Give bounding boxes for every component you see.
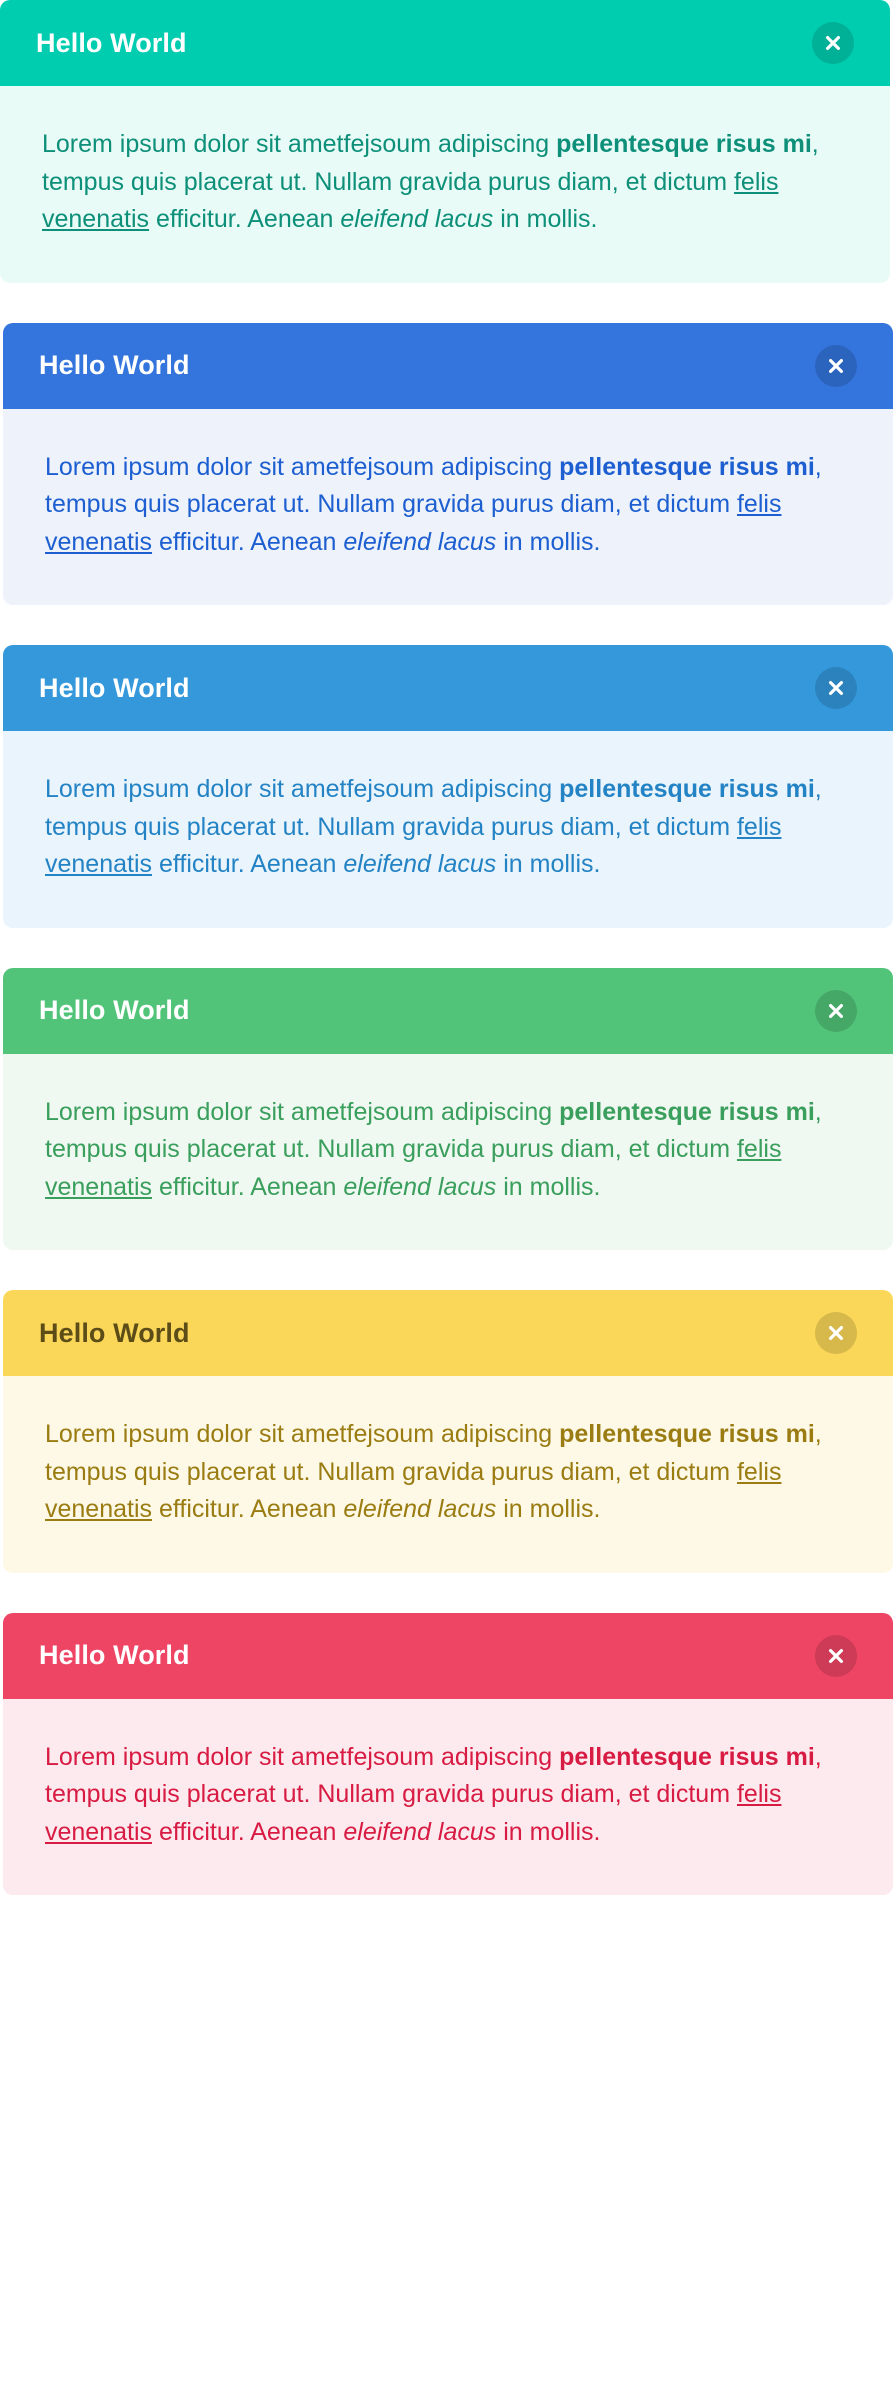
- close-icon: [827, 1002, 845, 1020]
- body-text-end: in mollis.: [496, 1173, 600, 1201]
- alert-yellow-title: Hello World: [39, 1320, 815, 1347]
- alert-body-paragraph: Lorem ipsum dolor sit ametfejsoum adipis…: [45, 1416, 851, 1529]
- body-text-italic: eleifend lacus: [343, 1173, 496, 1201]
- alert-body-paragraph: Lorem ipsum dolor sit ametfejsoum adipis…: [42, 126, 848, 239]
- close-icon: [824, 34, 842, 52]
- body-text-tail: efficitur. Aenean: [152, 1818, 343, 1846]
- alert-body-paragraph: Lorem ipsum dolor sit ametfejsoum adipis…: [45, 449, 851, 562]
- body-text-lead: Lorem ipsum dolor sit ametfejsoum adipis…: [45, 1743, 559, 1771]
- alert-green-close-button[interactable]: [815, 990, 857, 1032]
- alert-teal-title: Hello World: [36, 30, 812, 57]
- alert-lightblue-title: Hello World: [39, 675, 815, 702]
- alert-green-header: Hello World: [3, 968, 893, 1054]
- alert-green: Hello World Lorem ipsum dolor sit ametfe…: [3, 968, 893, 1251]
- body-text-bold: pellentesque risus mi: [559, 775, 815, 803]
- alert-green-title: Hello World: [39, 997, 815, 1024]
- alert-yellow-body: Lorem ipsum dolor sit ametfejsoum adipis…: [3, 1376, 893, 1573]
- body-text-end: in mollis.: [496, 528, 600, 556]
- alert-lightblue-close-button[interactable]: [815, 667, 857, 709]
- close-icon: [827, 357, 845, 375]
- alert-red-close-button[interactable]: [815, 1635, 857, 1677]
- close-icon: [827, 1324, 845, 1342]
- close-icon: [827, 679, 845, 697]
- body-text-italic: eleifend lacus: [343, 1495, 496, 1523]
- body-text-lead: Lorem ipsum dolor sit ametfejsoum adipis…: [45, 1098, 559, 1126]
- body-text-bold: pellentesque risus mi: [559, 1420, 815, 1448]
- body-text-tail: efficitur. Aenean: [149, 205, 340, 233]
- body-text-end: in mollis.: [493, 205, 597, 233]
- body-text-lead: Lorem ipsum dolor sit ametfejsoum adipis…: [45, 453, 559, 481]
- body-text-bold: pellentesque risus mi: [559, 1098, 815, 1126]
- alert-red-title: Hello World: [39, 1642, 815, 1669]
- alert-body-paragraph: Lorem ipsum dolor sit ametfejsoum adipis…: [45, 771, 851, 884]
- alert-teal: Hello World Lorem ipsum dolor sit ametfe…: [0, 0, 890, 283]
- alert-lightblue-body: Lorem ipsum dolor sit ametfejsoum adipis…: [3, 731, 893, 928]
- body-text-bold: pellentesque risus mi: [556, 130, 812, 158]
- alert-blue-body: Lorem ipsum dolor sit ametfejsoum adipis…: [3, 409, 893, 606]
- body-text-end: in mollis.: [496, 850, 600, 878]
- alert-body-paragraph: Lorem ipsum dolor sit ametfejsoum adipis…: [45, 1094, 851, 1207]
- body-text-bold: pellentesque risus mi: [559, 1743, 815, 1771]
- alert-yellow: Hello World Lorem ipsum dolor sit ametfe…: [3, 1290, 893, 1573]
- body-text-lead: Lorem ipsum dolor sit ametfejsoum adipis…: [42, 130, 556, 158]
- body-text-italic: eleifend lacus: [340, 205, 493, 233]
- close-icon: [827, 1647, 845, 1665]
- body-text-end: in mollis.: [496, 1818, 600, 1846]
- body-text-lead: Lorem ipsum dolor sit ametfejsoum adipis…: [45, 1420, 559, 1448]
- body-text-italic: eleifend lacus: [343, 1818, 496, 1846]
- body-text-italic: eleifend lacus: [343, 850, 496, 878]
- body-text-lead: Lorem ipsum dolor sit ametfejsoum adipis…: [45, 775, 559, 803]
- alert-teal-header: Hello World: [0, 0, 890, 86]
- alert-red: Hello World Lorem ipsum dolor sit ametfe…: [3, 1613, 893, 1896]
- body-text-tail: efficitur. Aenean: [152, 1173, 343, 1201]
- alert-blue: Hello World Lorem ipsum dolor sit ametfe…: [3, 323, 893, 606]
- alerts-page: Hello World Lorem ipsum dolor sit ametfe…: [0, 0, 896, 1935]
- alert-blue-header: Hello World: [3, 323, 893, 409]
- alert-blue-title: Hello World: [39, 352, 815, 379]
- alert-blue-close-button[interactable]: [815, 345, 857, 387]
- alert-body-paragraph: Lorem ipsum dolor sit ametfejsoum adipis…: [45, 1739, 851, 1852]
- body-text-bold: pellentesque risus mi: [559, 453, 815, 481]
- alert-lightblue-header: Hello World: [3, 645, 893, 731]
- alert-red-header: Hello World: [3, 1613, 893, 1699]
- alert-teal-close-button[interactable]: [812, 22, 854, 64]
- body-text-tail: efficitur. Aenean: [152, 850, 343, 878]
- body-text-end: in mollis.: [496, 1495, 600, 1523]
- alert-red-body: Lorem ipsum dolor sit ametfejsoum adipis…: [3, 1699, 893, 1896]
- alert-teal-body: Lorem ipsum dolor sit ametfejsoum adipis…: [0, 86, 890, 283]
- body-text-tail: efficitur. Aenean: [152, 528, 343, 556]
- alert-green-body: Lorem ipsum dolor sit ametfejsoum adipis…: [3, 1054, 893, 1251]
- body-text-italic: eleifend lacus: [343, 528, 496, 556]
- body-text-tail: efficitur. Aenean: [152, 1495, 343, 1523]
- alert-yellow-close-button[interactable]: [815, 1312, 857, 1354]
- alert-yellow-header: Hello World: [3, 1290, 893, 1376]
- alert-lightblue: Hello World Lorem ipsum dolor sit ametfe…: [3, 645, 893, 928]
